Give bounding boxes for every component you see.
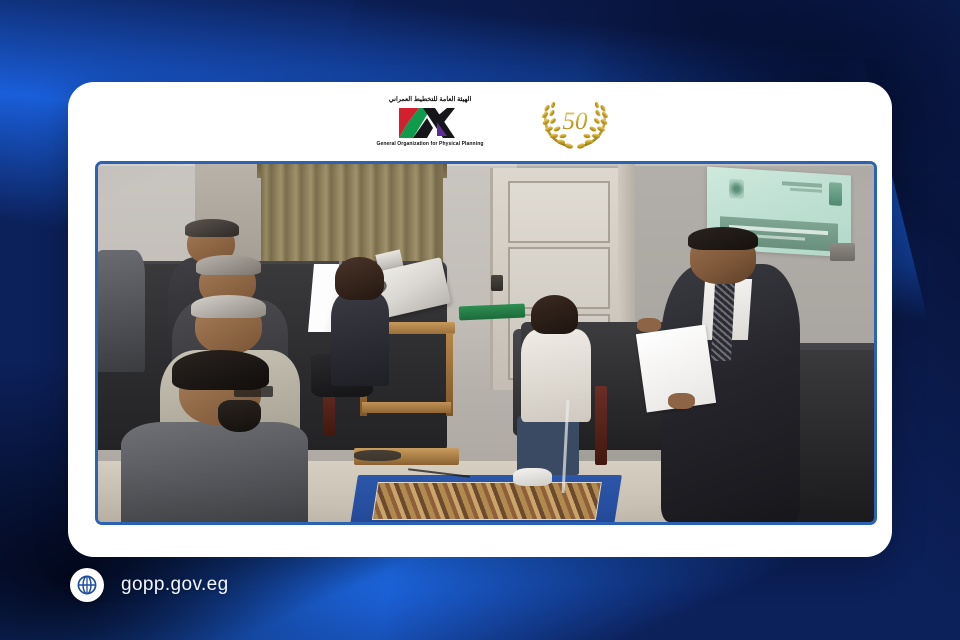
door-panel bbox=[508, 181, 609, 243]
globe-icon bbox=[70, 568, 104, 602]
speaker-hair bbox=[688, 227, 758, 250]
footer-bar: gopp.gov.eg bbox=[70, 568, 229, 602]
organization-name-english: General Organization for Physical Planni… bbox=[377, 142, 484, 147]
rug-pattern bbox=[372, 482, 602, 520]
eyeglasses-on-table bbox=[354, 450, 401, 461]
table-shelf bbox=[362, 402, 451, 413]
door-handle-icon bbox=[491, 275, 503, 291]
audience-person-beard bbox=[218, 400, 261, 432]
card-header: الهيئة العامة للتخطيط العمراني General O… bbox=[68, 82, 892, 162]
audience-person-hair bbox=[185, 219, 239, 237]
attendee-woman-body bbox=[331, 293, 389, 386]
globe-icon-glyph bbox=[76, 574, 98, 596]
wall-fixture bbox=[830, 243, 855, 261]
organization-name-arabic: الهيئة العامة للتخطيط العمراني bbox=[389, 97, 472, 104]
audience-person-body bbox=[98, 250, 145, 372]
gopp-logo-icon bbox=[397, 106, 463, 140]
slide-logo-left bbox=[729, 179, 745, 200]
attendee-woman-legs bbox=[517, 415, 579, 476]
speaker-necktie bbox=[711, 282, 735, 361]
laurel-wreath-50-icon: 50 bbox=[538, 93, 612, 151]
attendee-woman-hair bbox=[531, 295, 578, 334]
attendee-woman-body bbox=[521, 329, 591, 422]
audience-person-hair bbox=[191, 295, 265, 318]
speaker-hand bbox=[668, 393, 694, 409]
slide-header-text bbox=[782, 181, 822, 188]
organization-logo: الهيئة العامة للتخطيط العمراني General O… bbox=[348, 97, 512, 147]
content-card: الهيئة العامة للتخطيط العمراني General O… bbox=[68, 82, 892, 557]
speaker-hand bbox=[637, 318, 660, 332]
audience-person-hair bbox=[172, 350, 269, 389]
audience-person-hair bbox=[196, 255, 261, 275]
slide-subtitle-line bbox=[753, 235, 805, 241]
sofa-leg bbox=[595, 386, 607, 465]
audience-person-body bbox=[121, 422, 307, 522]
floor-rug bbox=[350, 475, 622, 522]
meeting-photograph bbox=[95, 161, 877, 525]
attendee-woman-shoe bbox=[513, 468, 552, 486]
slide-logo-right bbox=[829, 183, 842, 207]
attendee-woman-hair bbox=[335, 257, 383, 300]
anniversary-number: 50 bbox=[563, 108, 589, 135]
website-url[interactable]: gopp.gov.eg bbox=[121, 574, 229, 596]
slide-subheader-text bbox=[790, 188, 822, 193]
photograph-scene bbox=[98, 164, 874, 522]
